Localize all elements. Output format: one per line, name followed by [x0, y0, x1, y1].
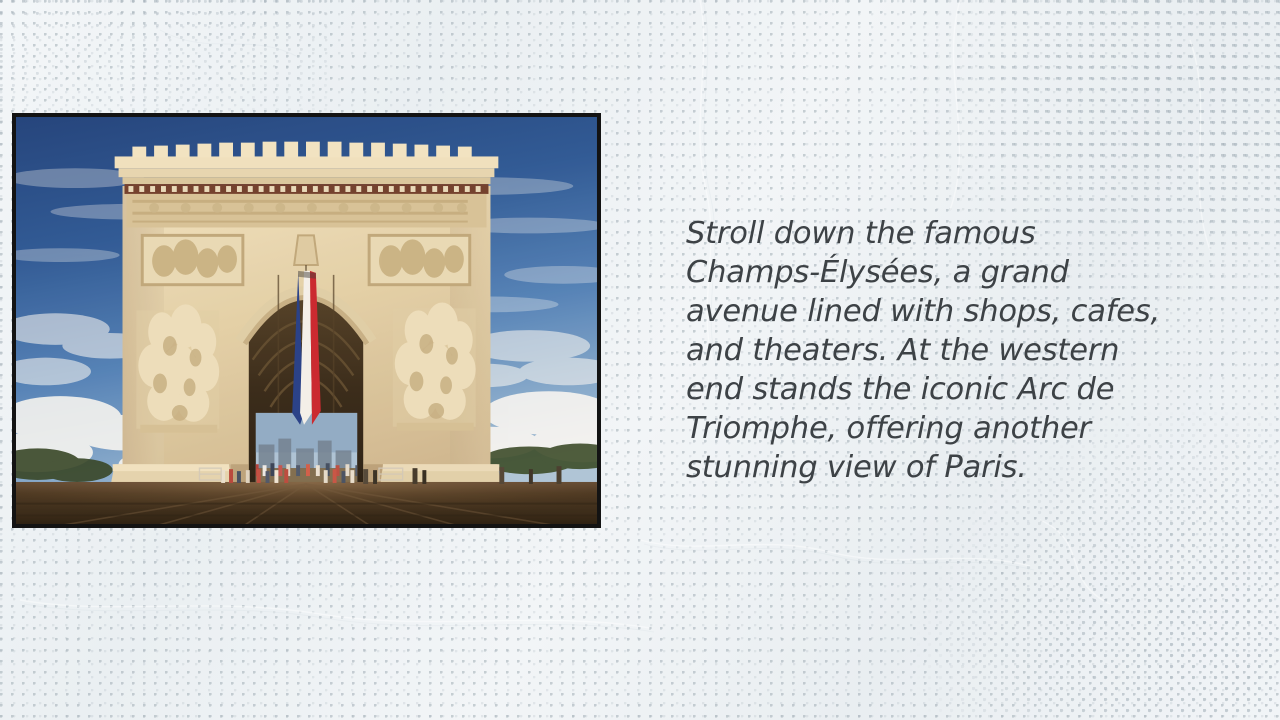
- arc-de-triomphe-photo: [16, 117, 597, 526]
- caption-text: Stroll down the famous Champs-Élysées, a…: [686, 214, 1191, 487]
- slide-canvas: Stroll down the famous Champs-Élysées, a…: [0, 0, 1280, 720]
- arc-de-triomphe-photo-frame: [12, 113, 601, 528]
- caption-block: Stroll down the famous Champs-Élysées, a…: [686, 214, 1191, 487]
